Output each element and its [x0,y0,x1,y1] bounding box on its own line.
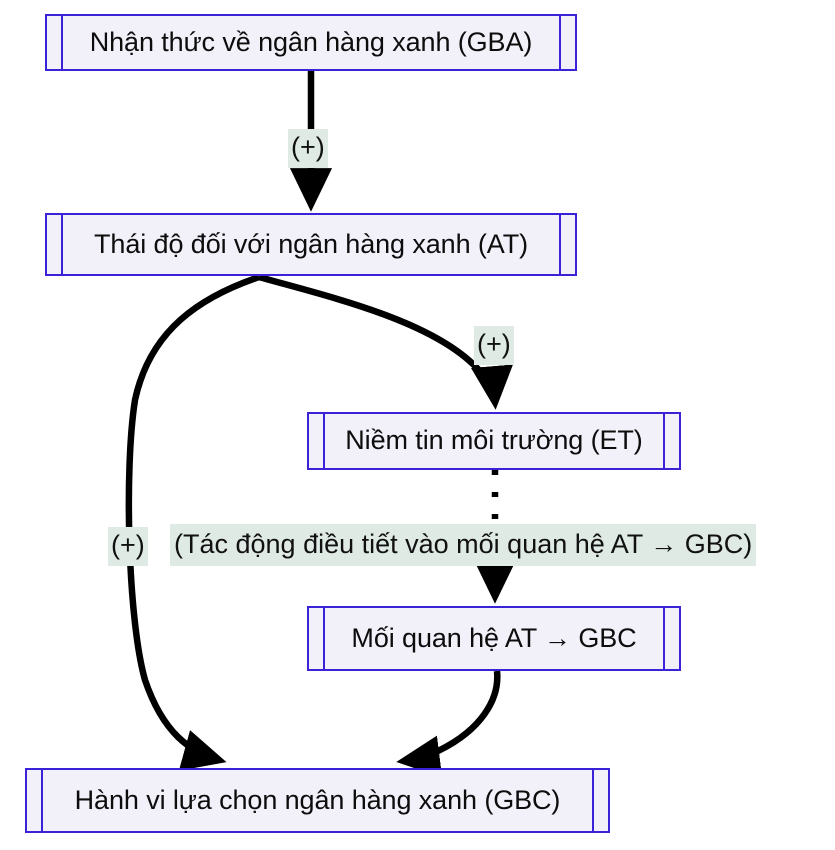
node-left-rule [41,770,43,831]
moderation-annotation: (Tác động điều tiết vào mối quan hệ AT →… [170,524,756,566]
node-left-rule [323,608,325,669]
edge-sign-gba-at: (+) [288,129,328,168]
node-label-at: Thái độ đối với ngân hàng xanh (AT) [74,229,548,260]
node-left-rule [61,215,63,274]
edge-at-to-gbc [129,277,259,760]
diagram-canvas: Nhận thức về ngân hàng xanh (GBA) Thái đ… [0,0,835,850]
node-label-et: Niềm tin môi trường (ET) [325,425,662,456]
node-at-gbc-relationship[interactable]: Mối quan hệ AT → GBC [307,606,681,671]
node-label-relationship: Mối quan hệ AT → GBC [331,623,656,654]
edge-sign-at-gbc: (+) [108,527,148,566]
node-left-rule [61,16,63,69]
edge-relationship-to-gbc [404,671,497,761]
edge-sign-at-et: (+) [474,326,514,365]
node-right-rule [559,215,561,274]
edge-at-to-et [259,277,495,402]
node-right-rule [663,414,665,468]
node-environmental-trust[interactable]: Niềm tin môi trường (ET) [307,412,681,470]
node-label-gba: Nhận thức về ngân hàng xanh (GBA) [70,27,553,58]
node-attitude-toward-green-banking[interactable]: Thái độ đối với ngân hàng xanh (AT) [45,213,577,276]
node-green-banking-awareness[interactable]: Nhận thức về ngân hàng xanh (GBA) [45,14,577,71]
node-green-banking-choice-behavior[interactable]: Hành vi lựa chọn ngân hàng xanh (GBC) [25,768,610,833]
node-right-rule [663,608,665,669]
node-right-rule [592,770,594,831]
node-right-rule [559,16,561,69]
node-label-gbc: Hành vi lựa chọn ngân hàng xanh (GBC) [55,785,581,816]
